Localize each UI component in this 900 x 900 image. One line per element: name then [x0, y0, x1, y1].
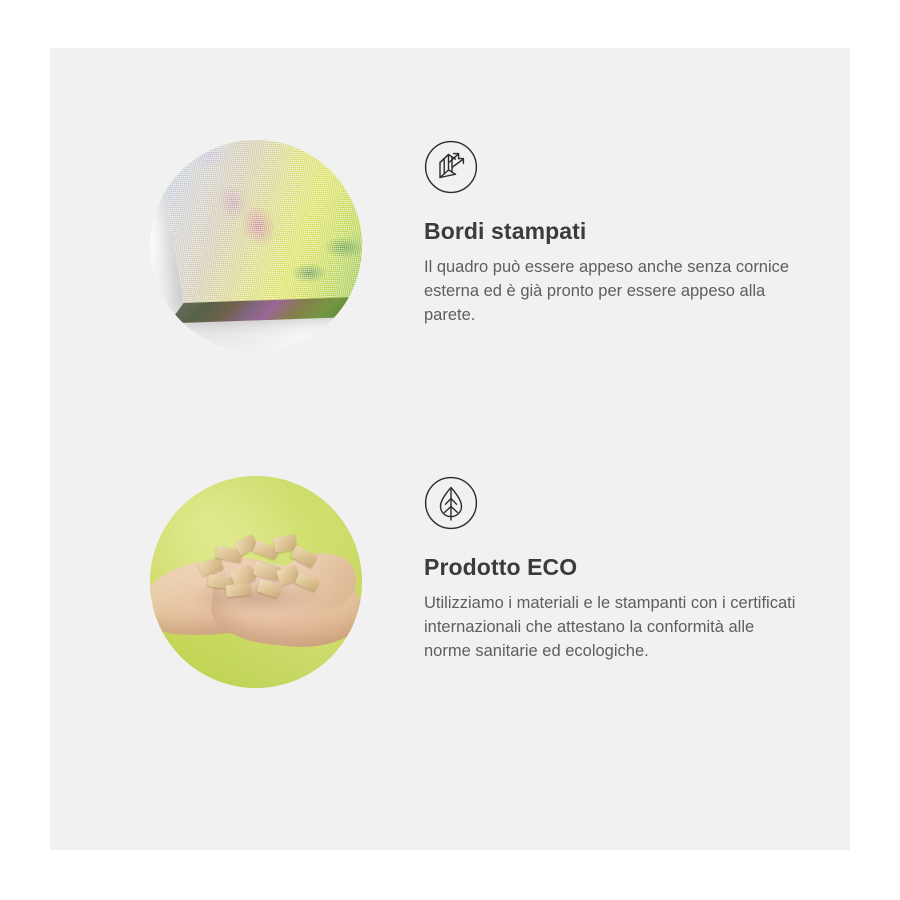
canvas-printed-face: [152, 140, 362, 306]
canvas-wrap-edges-icon: [424, 140, 478, 194]
content-panel: Bordi stampati Il quadro può essere appe…: [50, 48, 850, 850]
canvas-scene: [150, 140, 362, 352]
wood-chips: [196, 534, 322, 602]
fingers: [270, 544, 362, 622]
feature-title-eco-product: Prodotto ECO: [424, 554, 816, 582]
eco-scene: [150, 476, 362, 688]
feature-copy-eco-product: Prodotto ECO Utilizziamo i materiali e l…: [424, 476, 816, 664]
left-hand: [150, 551, 302, 644]
hands-holding-wood-chips-photo: [150, 476, 362, 688]
feature-title-printed-edges: Bordi stampati: [424, 218, 816, 246]
palm-shadow: [190, 580, 322, 614]
right-hand: [208, 558, 362, 653]
product-feature-page: Bordi stampati Il quadro può essere appe…: [0, 0, 900, 900]
feature-eco-product: Prodotto ECO Utilizziamo i materiali e l…: [50, 428, 850, 718]
feature-text-printed-edges: Il quadro può essere appeso anche senza …: [424, 255, 796, 328]
feature-printed-edges: Bordi stampati Il quadro può essere appe…: [50, 140, 850, 430]
canvas-block: [152, 140, 362, 306]
canvas-corner-photo: [150, 140, 362, 352]
leaf-icon: [424, 476, 478, 530]
feature-text-eco-product: Utilizziamo i materiali e le stampanti c…: [424, 591, 796, 664]
feature-copy-printed-edges: Bordi stampati Il quadro può essere appe…: [424, 140, 816, 328]
